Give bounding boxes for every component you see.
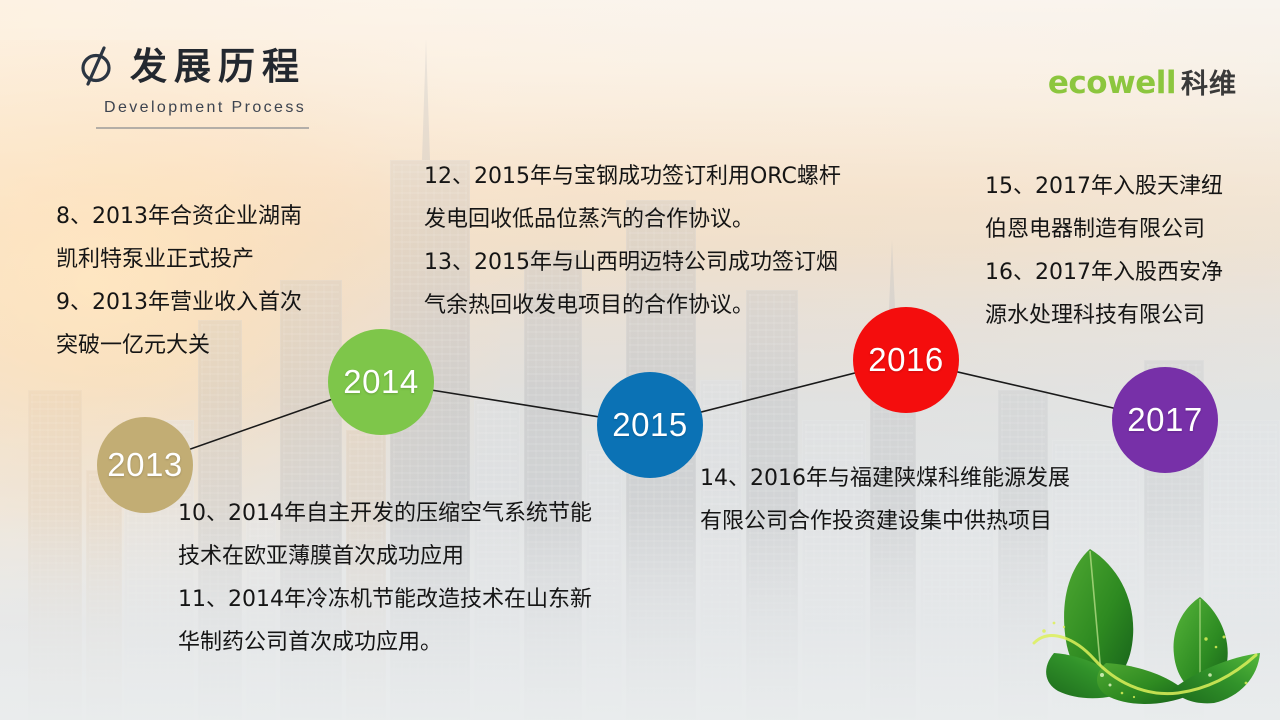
- text-line: 气余热回收发电项目的合作协议。: [424, 284, 841, 327]
- text-line: 12、2015年与宝钢成功签订利用ORC螺杆: [424, 155, 841, 198]
- text-line: 突破一亿元大关: [56, 324, 302, 367]
- text-line: 13、2015年与山西明迈特公司成功签订烟: [424, 241, 841, 284]
- timeline-node-2017[interactable]: 2017: [1112, 367, 1218, 473]
- title-group: 发展历程 Development Process: [76, 44, 306, 117]
- timeline-node-2016[interactable]: 2016: [853, 307, 959, 413]
- green-leaves-icon: [1010, 535, 1280, 720]
- text-block-items-15-16: 15、2017年入股天津纽 伯恩电器制造有限公司 16、2017年入股西安净 源…: [985, 165, 1223, 337]
- text-block-items-12-13: 12、2015年与宝钢成功签订利用ORC螺杆 发电回收低品位蒸汽的合作协议。 1…: [424, 155, 841, 327]
- text-block-items-10-11: 10、2014年自主开发的压缩空气系统节能 技术在欧亚薄膜首次成功应用 11、2…: [178, 492, 592, 664]
- text-line: 华制药公司首次成功应用。: [178, 621, 592, 664]
- text-block-items-8-9: 8、2013年合资企业湖南 凯利特泵业正式投产 9、2013年营业收入首次 突破…: [56, 195, 302, 367]
- timeline-node-2017-label: 2017: [1127, 401, 1202, 439]
- phi-circle-slash-icon: [76, 44, 116, 88]
- text-line: 技术在欧亚薄膜首次成功应用: [178, 535, 592, 578]
- page-title: 发展历程: [130, 48, 306, 85]
- text-line: 9、2013年营业收入首次: [56, 281, 302, 324]
- timeline-node-2013-label: 2013: [107, 446, 182, 484]
- title-underline: [96, 127, 309, 129]
- brand-logo: ecowell 科维: [1048, 62, 1237, 101]
- text-line: 8、2013年合资企业湖南: [56, 195, 302, 238]
- text-line: 发电回收低品位蒸汽的合作协议。: [424, 198, 841, 241]
- page-subtitle: Development Process: [104, 99, 306, 117]
- text-line: 10、2014年自主开发的压缩空气系统节能: [178, 492, 592, 535]
- text-line: 伯恩电器制造有限公司: [985, 208, 1223, 251]
- text-line: 16、2017年入股西安净: [985, 251, 1223, 294]
- text-block-item-14: 14、2016年与福建陕煤科维能源发展 有限公司合作投资建设集中供热项目: [700, 457, 1070, 543]
- logo-wordmark-cn: 科维: [1181, 62, 1237, 101]
- timeline-node-2014-label: 2014: [343, 363, 418, 401]
- text-line: 凯利特泵业正式投产: [56, 238, 302, 281]
- slide-header: 发展历程 Development Process ecowell 科维: [0, 0, 1280, 132]
- text-line: 源水处理科技有限公司: [985, 294, 1223, 337]
- timeline-node-2015-label: 2015: [612, 406, 687, 444]
- text-line: 11、2014年冷冻机节能改造技术在山东新: [178, 578, 592, 621]
- timeline-node-2016-label: 2016: [868, 341, 943, 379]
- timeline-node-2015[interactable]: 2015: [597, 372, 703, 478]
- logo-wordmark: ecowell: [1048, 65, 1176, 101]
- slide-canvas: 发展历程 Development Process ecowell 科维 2013…: [0, 0, 1280, 720]
- text-line: 14、2016年与福建陕煤科维能源发展: [700, 457, 1070, 500]
- timeline-node-2014[interactable]: 2014: [328, 329, 434, 435]
- text-line: 15、2017年入股天津纽: [985, 165, 1223, 208]
